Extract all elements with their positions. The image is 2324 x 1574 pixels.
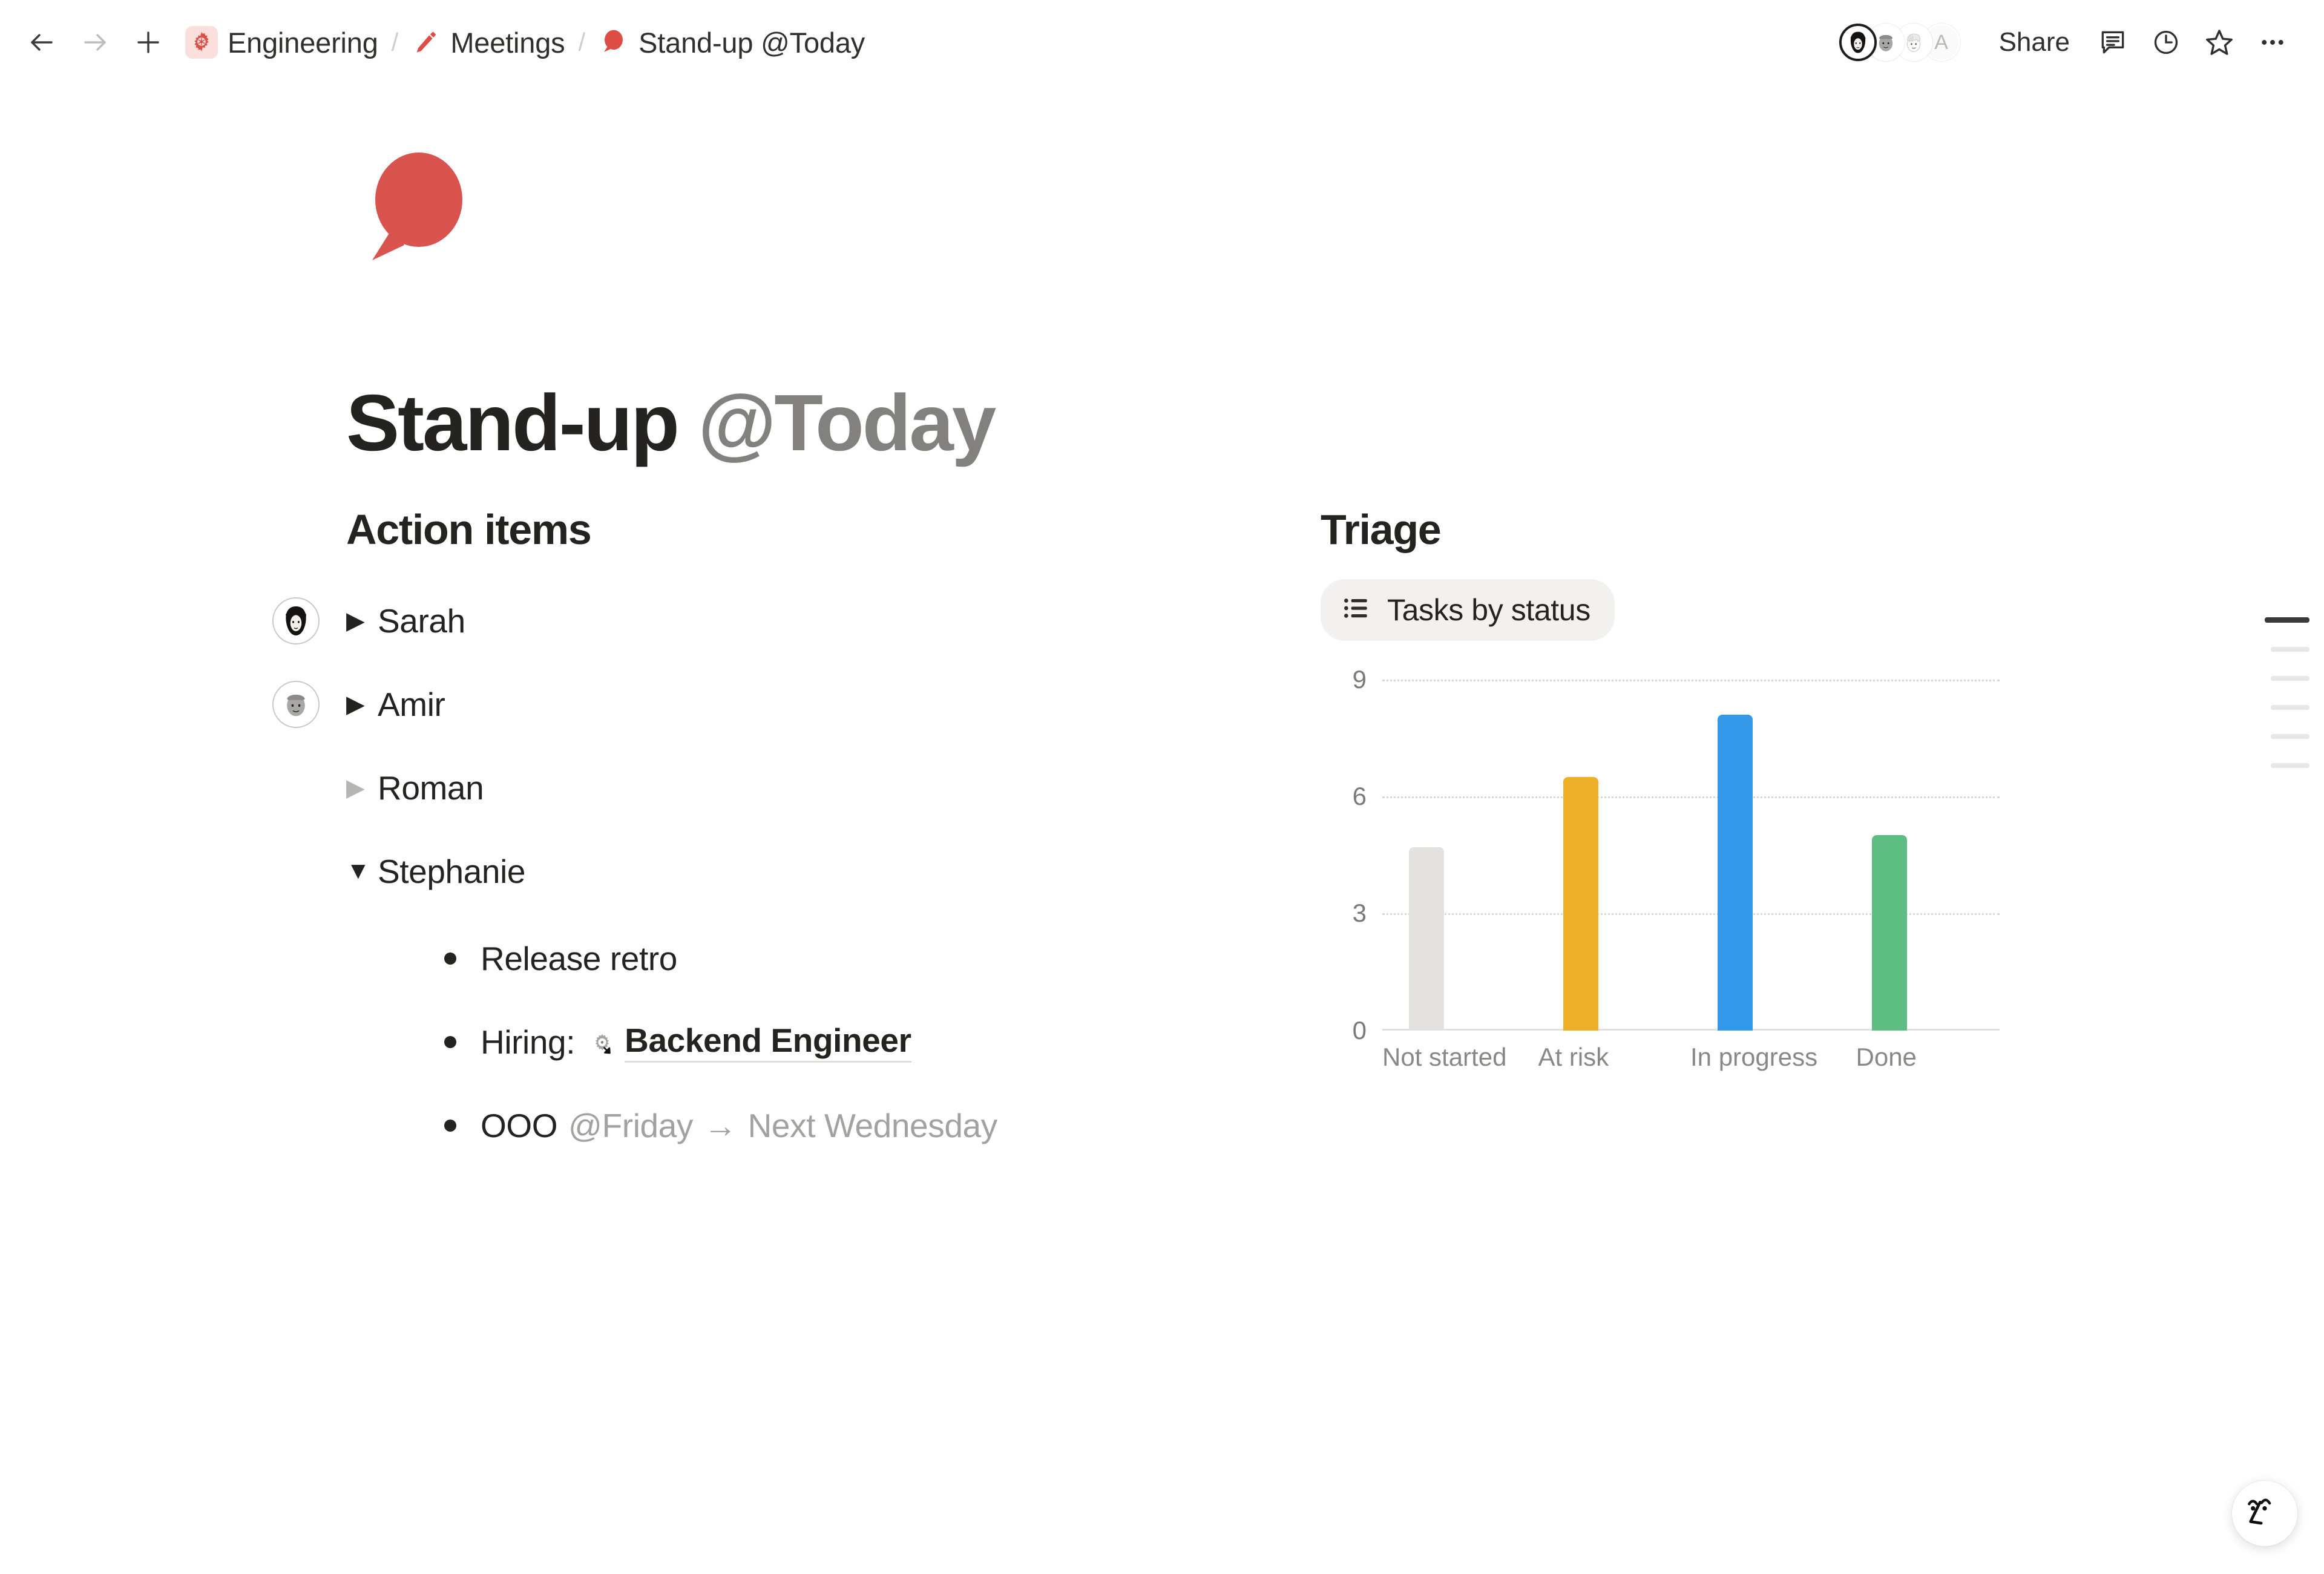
x-axis-tick-label: At risk [1526,1043,1682,1072]
triage-column: Triage Tasks by status 9630 [1321,505,2047,1167]
page-body: Stand-up @Today Action items [0,85,2324,1167]
action-items-heading: Action items [346,505,1278,554]
breadcrumb-separator: / [573,28,590,57]
avatar [272,681,320,728]
bar[interactable] [1718,715,1753,1031]
action-item-sarah[interactable]: ▶ Sarah [346,579,1278,663]
disclosure-triangle-icon[interactable]: ▶ [346,690,378,718]
breadcrumb-label: Stand-up @Today [638,26,865,59]
bar-slot[interactable] [1537,680,1691,1031]
avatar [272,597,320,644]
bullet-icon [444,1120,456,1132]
page-title-main: Stand-up [346,378,698,467]
view-selector-tasks-by-status[interactable]: Tasks by status [1321,579,1615,641]
y-axis-tick-label: 9 [1353,665,1367,694]
list-view-icon [1341,593,1371,626]
disclosure-triangle-icon[interactable]: ▶ [346,774,378,802]
page-title-mention: @Today [698,378,995,467]
collaborator-avatars: A [1839,24,1960,61]
y-axis: 9630 [1324,680,1367,1031]
disclosure-triangle-icon[interactable]: ▶ [346,607,378,635]
action-items-list: ▶ Sarah [346,579,1278,1167]
list-item[interactable]: OOO @Friday → Next Wednesday [346,1084,1278,1167]
triage-heading: Triage [1321,505,2047,554]
view-selector-label: Tasks by status [1387,592,1590,628]
page-icon[interactable] [346,139,491,284]
action-items-column: Action items [346,505,1278,1167]
breadcrumb-item-meetings[interactable]: Meetings [403,21,573,64]
date-mention-from[interactable]: @Friday [568,1106,693,1145]
comment-icon[interactable] [2089,19,2136,66]
bar[interactable] [1872,835,1907,1030]
bar-slot[interactable] [1382,680,1537,1031]
arrow-right-icon: → [704,1106,737,1145]
action-item-label: Amir [378,685,445,724]
list-item-label: Hiring: [481,1023,575,1061]
breadcrumb-label: Meetings [450,26,565,59]
outline-rail[interactable] [2265,617,2309,768]
x-axis-tick-label: Not started [1382,1043,1526,1072]
action-item-label: Roman [378,769,484,807]
outline-rail-item[interactable] [2271,705,2309,710]
x-axis-tick-label: In progress [1682,1043,1834,1072]
disclosure-triangle-icon[interactable]: ▼ [346,858,378,885]
share-button[interactable]: Share [1986,21,2083,64]
list-item-label: Release retro [481,939,677,978]
two-column-layout: Action items [346,505,2101,1167]
avatar[interactable] [1839,24,1877,61]
action-item-roman[interactable]: ▶ Roman [346,746,1278,830]
top-bar-actions: A Share [1839,19,2296,66]
bar-slot[interactable] [1691,680,1845,1031]
outline-rail-item[interactable] [2271,647,2309,652]
y-axis-tick-label: 0 [1353,1016,1367,1045]
action-item-stephanie[interactable]: ▼ Stephanie [346,830,1278,913]
x-axis-tick-label: Done [1834,1043,2000,1072]
clock-icon[interactable] [2142,19,2190,66]
arrow-right-icon[interactable] [71,19,119,66]
top-bar: Engineering / Meetings / Stand-up @Today [0,0,2324,85]
star-icon[interactable] [2196,19,2243,66]
x-axis-labels: Not startedAt riskIn progressDone [1382,1043,2000,1072]
action-item-label: Stephanie [378,852,525,891]
bar-series [1382,680,2000,1031]
page-content: Stand-up @Today Action items [346,139,2101,1167]
breadcrumb-separator: / [387,28,404,57]
bar[interactable] [1409,847,1444,1031]
breadcrumb-item-engineering[interactable]: Engineering [177,21,387,64]
breadcrumb-item-standup[interactable]: Stand-up @Today [590,21,873,64]
avatar-initial: A [1934,31,1948,54]
bullet-icon [444,1036,456,1048]
speech-bubble-icon [599,27,629,57]
plot-area [1382,680,2000,1031]
pencil-icon [412,28,441,57]
outline-rail-item[interactable] [2271,676,2309,681]
arrow-left-icon[interactable] [18,19,65,66]
page-link[interactable]: Backend Engineer [588,1021,911,1063]
nav-arrows [18,19,172,66]
action-item-label: Sarah [378,602,465,640]
action-item-amir[interactable]: ▶ Amir [346,663,1278,746]
list-item[interactable]: Release retro [346,917,1278,1000]
gear-icon [185,26,218,59]
bar-slot[interactable] [1845,680,2000,1031]
list-item[interactable]: Hiring: Backe [346,1000,1278,1084]
bullet-icon [444,953,456,965]
breadcrumb-label: Engineering [228,26,378,59]
ai-face-icon[interactable] [2232,1481,2297,1546]
page-link-label: Backend Engineer [625,1021,911,1063]
page-title[interactable]: Stand-up @Today [346,381,2101,465]
y-axis-tick-label: 6 [1353,782,1367,811]
plus-icon[interactable] [125,19,172,66]
ellipsis-icon[interactable] [2249,19,2296,66]
stephanie-sub-items: Release retro Hiring: [346,917,1278,1167]
bar[interactable] [1563,777,1598,1031]
breadcrumb: Engineering / Meetings / Stand-up @Today [177,21,873,64]
gear-link-icon [588,1028,616,1056]
ooo-label: OOO [481,1106,557,1145]
outline-rail-item[interactable] [2271,763,2309,768]
tasks-by-status-bar-chart[interactable]: 9630 Not startedAt riskIn progressDone [1324,680,2020,1103]
y-axis-tick-label: 3 [1353,899,1367,928]
outline-rail-item[interactable] [2265,617,2309,623]
outline-rail-item[interactable] [2271,734,2309,739]
date-mention-to[interactable]: Next Wednesday [748,1106,997,1145]
